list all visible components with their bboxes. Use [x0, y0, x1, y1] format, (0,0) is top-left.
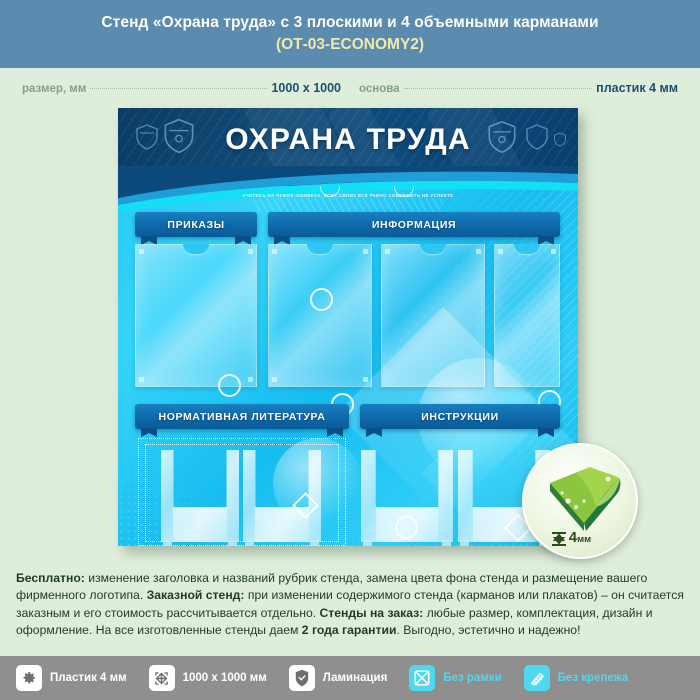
- rubric-label: ИНСТРУКЦИИ: [421, 411, 498, 423]
- feature-size[interactable]: 1000 x 1000 мм: [149, 665, 267, 691]
- circle-marker: [218, 374, 241, 397]
- resize-icon: [149, 665, 175, 691]
- pocket-foot: [310, 540, 319, 546]
- flat-pocket[interactable]: [268, 244, 372, 387]
- pocket-foot: [363, 540, 372, 546]
- spec-base-label: основа: [359, 83, 400, 95]
- flat-pocket[interactable]: [494, 244, 560, 387]
- pocket-foot: [442, 540, 451, 546]
- custom-label: Заказной стенд:: [147, 588, 245, 602]
- page-title: Стенд «Охрана труда» с 3 плоскими и 4 об…: [101, 14, 598, 32]
- stand-title: ОХРАНА ТРУДА: [118, 123, 578, 157]
- feature-size-label: 1000 x 1000 мм: [183, 672, 267, 684]
- shield-check-icon: [289, 665, 315, 691]
- pocket-clip: [385, 249, 390, 254]
- rubric-plate-informaciya[interactable]: ИНФОРМАЦИЯ: [268, 212, 560, 237]
- spec-size: размер, мм 1000 x 1000: [22, 81, 341, 95]
- feature-no-mount-label: Без крепежа: [558, 672, 629, 684]
- spec-dot-leader: [90, 88, 267, 89]
- thickness-badge: 4мм: [522, 443, 638, 559]
- pocket-clip: [551, 249, 556, 254]
- thickness-value: 4: [569, 529, 577, 546]
- thickness-label: 4мм: [524, 529, 636, 546]
- spec-dot-leader: [404, 88, 593, 89]
- rubric-plate-normativnaya-literatura[interactable]: НОРМАТИВНАЯ ЛИТЕРАТУРА: [135, 404, 349, 429]
- flat-pocket[interactable]: [135, 244, 257, 387]
- free-label: Бесплатно:: [16, 571, 85, 585]
- ribbon-right: [327, 428, 343, 437]
- pocket-clip: [139, 249, 144, 254]
- stand-header-band: ОХРАНА ТРУДА: [118, 108, 578, 186]
- description-text: Бесплатно: изменение заголовка и названи…: [16, 570, 684, 639]
- rubric-plate-prikazy[interactable]: ПРИКАЗЫ: [135, 212, 257, 237]
- rubric-label: ПРИКАЗЫ: [167, 219, 224, 231]
- feature-no-frame-label: Без рамки: [443, 672, 501, 684]
- spec-row: размер, мм 1000 x 1000 основа пластик 4 …: [0, 68, 700, 108]
- feature-icon-bar: Пластик 4 мм 1000 x 1000 мм Ламинаци: [0, 656, 700, 700]
- spec-size-value: 1000 x 1000: [271, 81, 341, 95]
- spec-base: основа пластик 4 мм: [359, 81, 678, 95]
- stand-board: ОХРАНА ТРУДА УЧИТЕСЬ НА ЧУЖИХ ОШИБКАХ, В…: [118, 108, 578, 546]
- pocket-foot: [460, 540, 469, 546]
- pocket-clip: [272, 377, 277, 382]
- spec-size-label: размер, мм: [22, 83, 86, 95]
- rubric-plate-instrukcii[interactable]: ИНСТРУКЦИИ: [360, 404, 560, 429]
- pocket-foot: [245, 540, 254, 546]
- pocket-clip: [272, 249, 277, 254]
- product-code: (ОТ-03-ECONOMY2): [276, 36, 424, 54]
- pocket-foot: [228, 540, 237, 546]
- warranty-label: 2 года гарантии: [302, 623, 397, 637]
- gear-icon: [16, 665, 42, 691]
- pocket-clip: [248, 377, 253, 382]
- order-label: Стенды на заказ:: [320, 606, 424, 620]
- rubric-label: ИНФОРМАЦИЯ: [372, 219, 456, 231]
- pocket-clip: [363, 377, 368, 382]
- pocket-clip: [248, 249, 253, 254]
- pocket-clip: [498, 249, 503, 254]
- volume-pocket[interactable]: [161, 450, 239, 542]
- pocket-clip: [476, 249, 481, 254]
- page-header: Стенд «Охрана труда» с 3 плоскими и 4 об…: [0, 0, 700, 68]
- no-mount-icon: [524, 665, 550, 691]
- feature-no-frame[interactable]: Без рамки: [409, 665, 501, 691]
- pocket-body: [161, 450, 239, 542]
- spec-base-value: пластик 4 мм: [596, 81, 678, 95]
- feature-plastic-label: Пластик 4 мм: [50, 672, 127, 684]
- pocket-foot: [163, 540, 172, 546]
- feature-plastic[interactable]: Пластик 4 мм: [16, 665, 127, 691]
- tail-text: . Выгодно, эстетично и надежно!: [396, 623, 580, 637]
- feature-lamination-label: Ламинация: [323, 672, 388, 684]
- circle-marker: [395, 516, 418, 539]
- pocket-clip: [363, 249, 368, 254]
- stand-preview: ОХРАНА ТРУДА УЧИТЕСЬ НА ЧУЖИХ ОШИБКАХ, В…: [118, 108, 578, 546]
- pocket-clip: [139, 377, 144, 382]
- product-card: Стенд «Охрана труда» с 3 плоскими и 4 об…: [0, 0, 700, 700]
- slogan-hatch-decoration: [253, 198, 443, 212]
- flat-pocket[interactable]: [381, 244, 485, 387]
- rubric-label: НОРМАТИВНАЯ ЛИТЕРАТУРА: [159, 411, 326, 423]
- circle-marker: [310, 288, 333, 311]
- feature-lamination[interactable]: Ламинация: [289, 665, 388, 691]
- thickness-unit: мм: [577, 534, 591, 545]
- no-frame-icon: [409, 665, 435, 691]
- ribbon-left: [141, 428, 157, 437]
- feature-no-mount[interactable]: Без крепежа: [524, 665, 629, 691]
